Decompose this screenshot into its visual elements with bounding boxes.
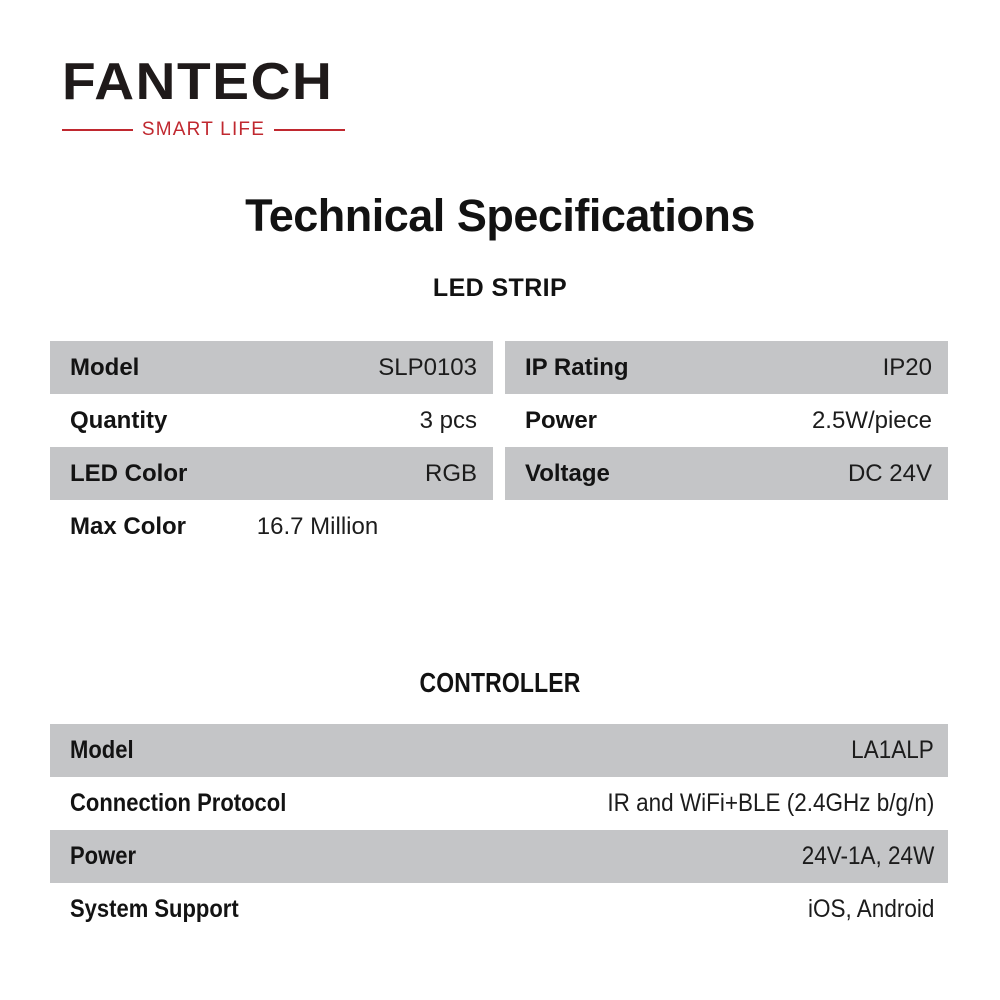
spec-value: DC 24V [848, 460, 932, 488]
spec-value: LA1ALP [851, 736, 934, 765]
spec-label: System Support [70, 895, 239, 924]
table-row: Power 24V-1A, 24W [50, 830, 948, 883]
spec-value: iOS, Android [808, 895, 934, 924]
spec-label: Power [70, 842, 136, 871]
brand-wordmark: FANTECH [62, 56, 369, 108]
led-strip-right-column: IP Rating IP20 Power 2.5W/piece Voltage … [505, 341, 948, 553]
spec-value: IR and WiFi+BLE (2.4GHz b/g/n) [607, 789, 934, 818]
spec-value: 3 pcs [420, 407, 477, 435]
spec-label: LED Color [70, 460, 187, 488]
spec-label: Power [525, 407, 597, 435]
spec-value: 24V-1A, 24W [801, 842, 934, 871]
tagline-rule-right [274, 129, 345, 131]
spec-label: Connection Protocol [70, 789, 286, 818]
table-row: Connection Protocol IR and WiFi+BLE (2.4… [50, 777, 948, 830]
led-strip-left-column: Model SLP0103 Quantity 3 pcs LED Color R… [50, 341, 493, 553]
spec-value: RGB [425, 460, 477, 488]
brand-tagline-row: SMART LIFE [62, 120, 345, 139]
spec-label: IP Rating [525, 354, 629, 382]
spec-label: Model [70, 354, 139, 382]
table-row: Voltage DC 24V [505, 447, 948, 500]
section-heading-controller: CONTROLLER [90, 667, 910, 699]
page-title: Technical Specifications [0, 190, 1000, 242]
tagline-rule-left [62, 129, 133, 131]
spec-value: IP20 [883, 354, 932, 382]
brand-logo: FANTECH SMART LIFE [62, 56, 352, 139]
table-row: Model LA1ALP [50, 724, 948, 777]
table-row: System Support iOS, Android [50, 883, 948, 936]
controller-spec-table: Model LA1ALP Connection Protocol IR and … [50, 724, 948, 936]
spec-label: Quantity [70, 407, 167, 435]
spec-value: 16.7 Million [186, 513, 477, 541]
table-row: Power 2.5W/piece [505, 394, 948, 447]
table-row: IP Rating IP20 [505, 341, 948, 394]
table-row: Max Color 16.7 Million [50, 500, 493, 553]
spec-label: Voltage [525, 460, 610, 488]
spec-value: SLP0103 [378, 354, 477, 382]
spec-label: Model [70, 736, 134, 765]
spec-label: Max Color [70, 513, 186, 541]
spec-value: 2.5W/piece [812, 407, 932, 435]
table-row: Model SLP0103 [50, 341, 493, 394]
brand-tagline: SMART LIFE [133, 120, 274, 139]
table-row: LED Color RGB [50, 447, 493, 500]
section-heading-led-strip: LED STRIP [0, 274, 1000, 303]
table-row: Quantity 3 pcs [50, 394, 493, 447]
led-strip-spec-table: Model SLP0103 Quantity 3 pcs LED Color R… [50, 341, 948, 553]
